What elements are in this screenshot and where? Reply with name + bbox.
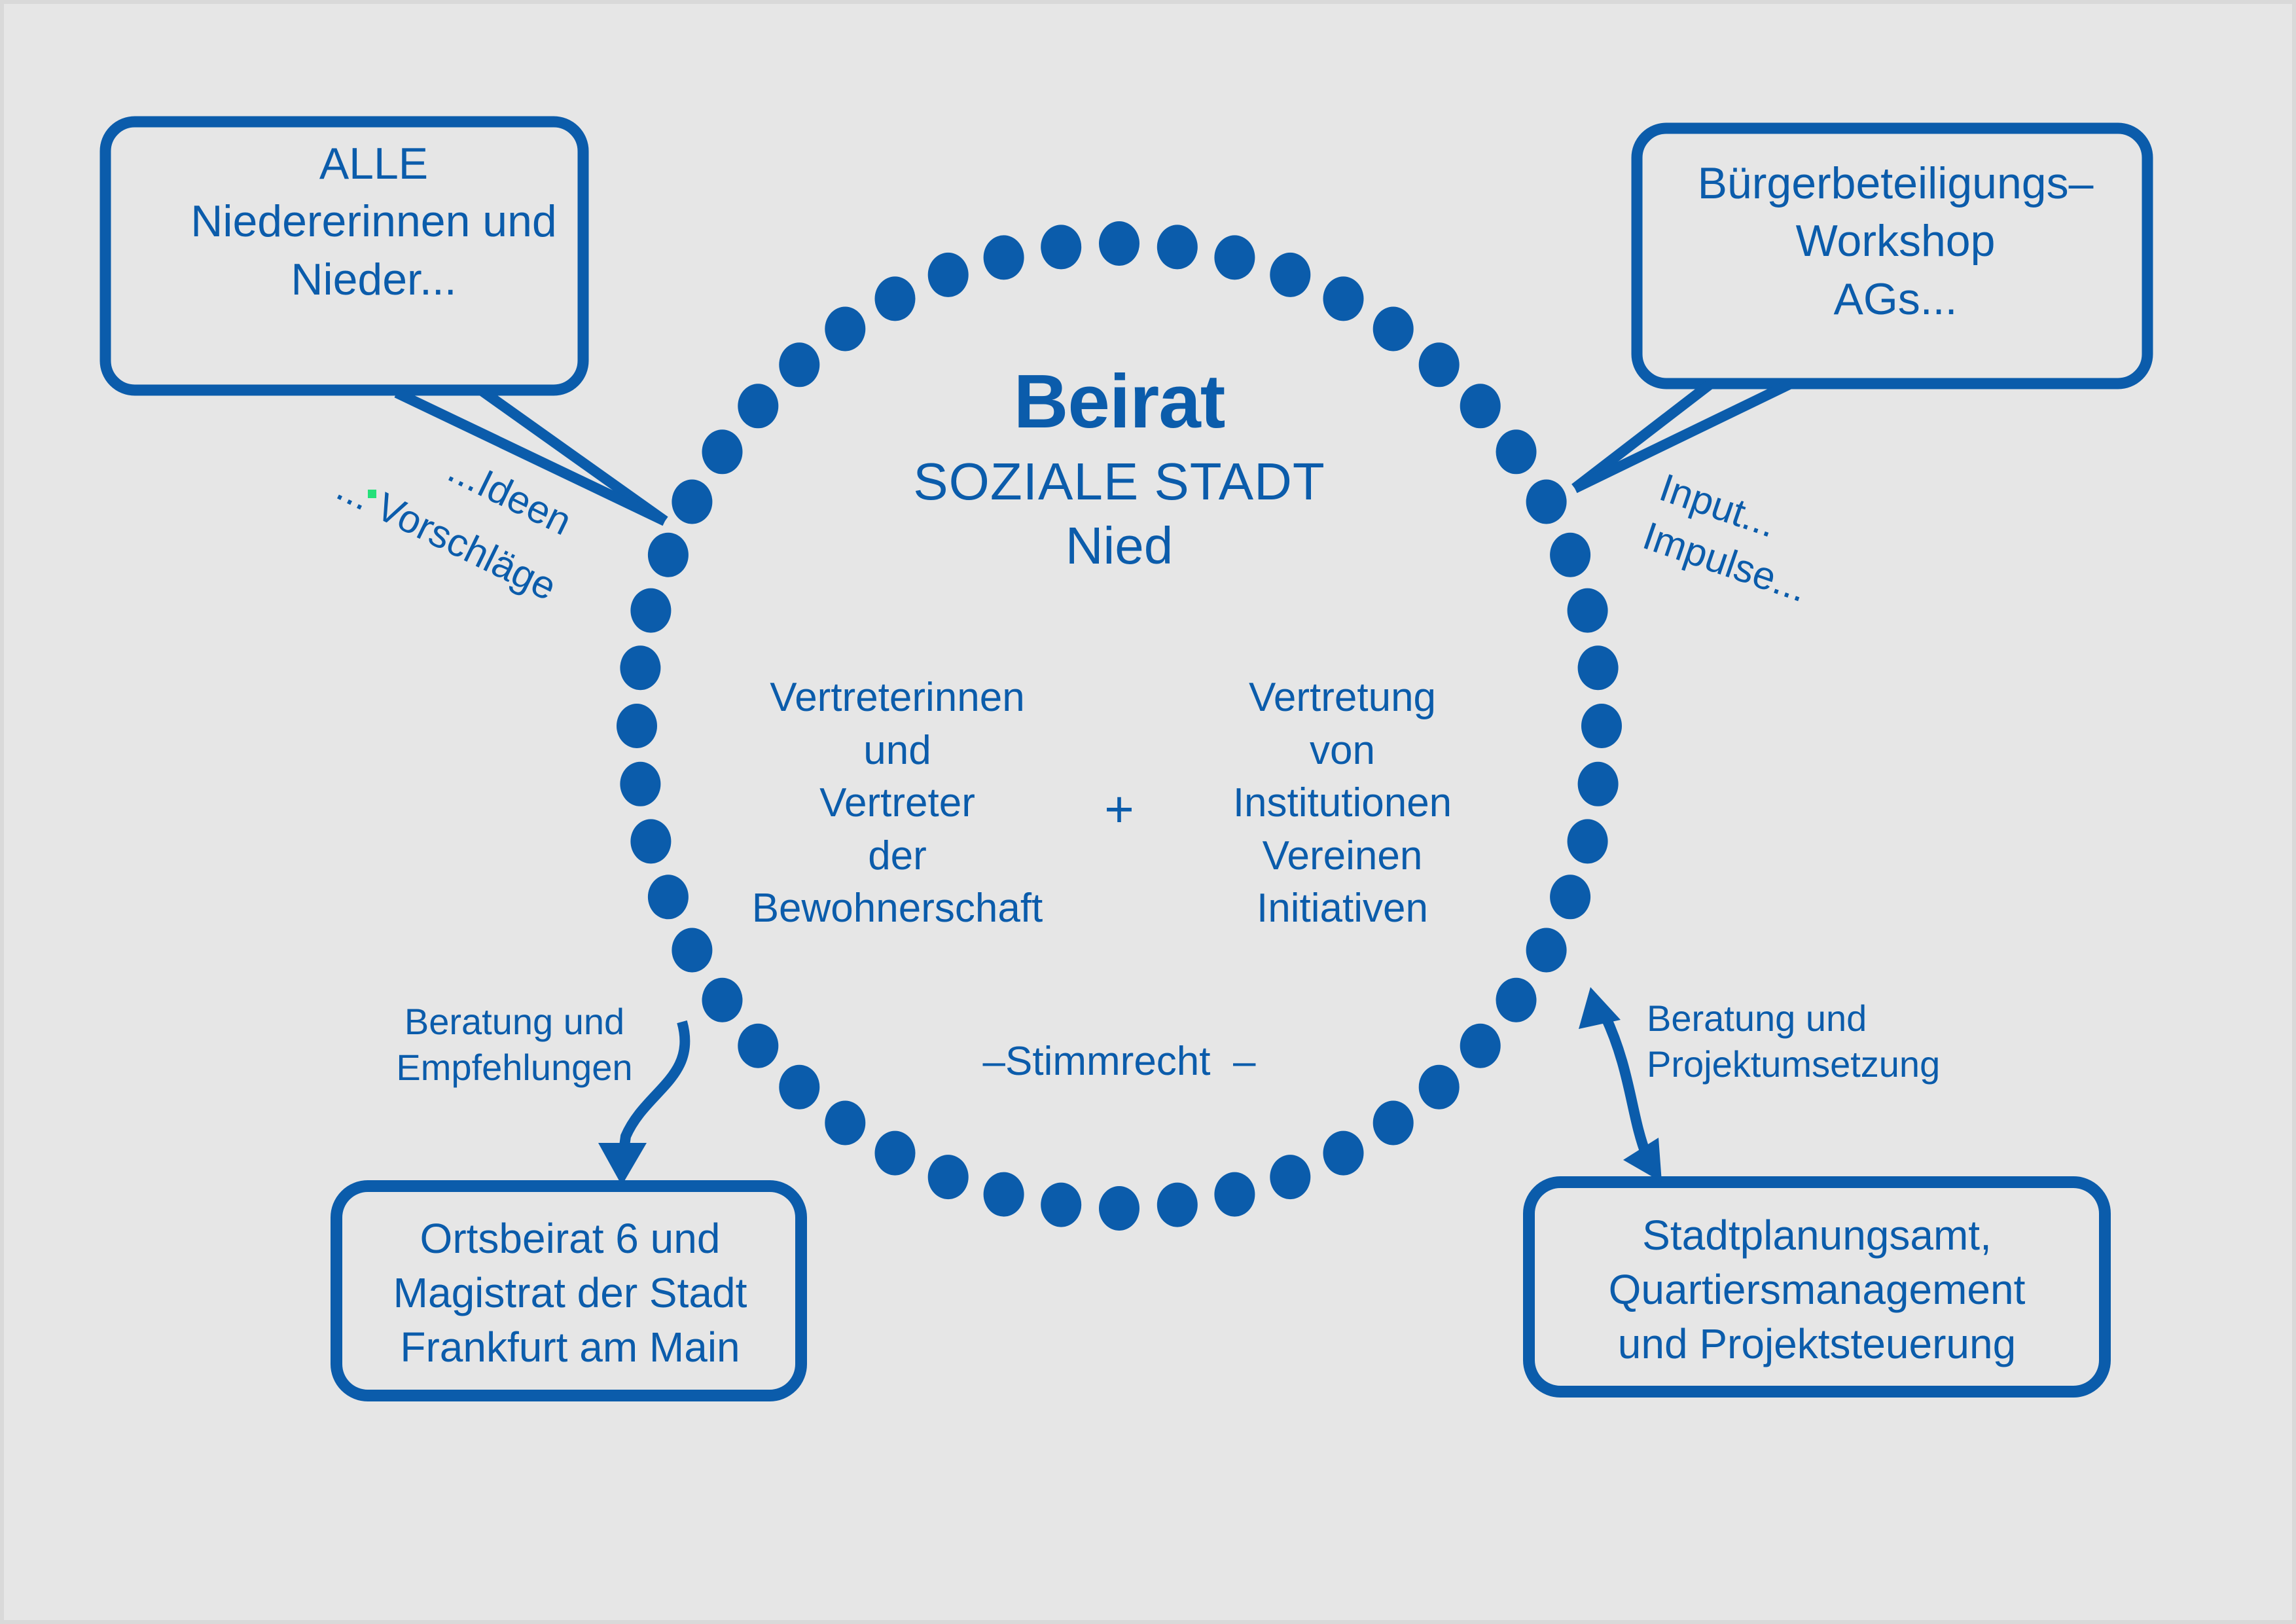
- circle-dot: [1568, 588, 1608, 633]
- voting-rights-note: –Stimmrecht –: [983, 1038, 1256, 1085]
- annotation-beratung-empfehlungen: Beratung und Empfehlungen: [377, 999, 652, 1091]
- left-col-line-3: Vertreter: [694, 777, 1100, 830]
- right-col-line-5: Initiativen: [1172, 882, 1513, 935]
- circle-dot: [779, 1065, 819, 1110]
- circle-dot: [1496, 978, 1537, 1022]
- circle-dot: [630, 819, 671, 863]
- left-col-line-5: Bewohnerschaft: [694, 882, 1100, 935]
- circle-dot: [875, 1131, 916, 1176]
- circle-dot: [1526, 928, 1567, 973]
- left-col-line-2: und: [694, 725, 1100, 778]
- page-title: Beirat: [759, 357, 1479, 445]
- circle-dot: [1214, 235, 1255, 280]
- annotation-beratung-projektumsetzung: Beratung und Projektumsetzung: [1647, 996, 1987, 1087]
- right-col-line-4: Vereinen: [1172, 830, 1513, 883]
- center-place: Nied: [759, 516, 1479, 576]
- circle-dot: [984, 235, 1024, 280]
- circle-dot: [1581, 704, 1622, 748]
- circle-dot: [1041, 225, 1081, 269]
- center-title-group: Beirat SOZIALE STADT Nied: [759, 357, 1479, 576]
- circle-dot: [648, 533, 689, 577]
- circle-dot: [1419, 1065, 1460, 1110]
- circle-dot: [1578, 762, 1619, 806]
- circle-dot: [1550, 533, 1590, 577]
- circle-dot: [1578, 645, 1619, 690]
- circle-dot: [620, 645, 660, 690]
- center-left-column: Vertreterinnen und Vertreter der Bewohne…: [694, 672, 1100, 935]
- circle-dot: [1526, 480, 1567, 524]
- box-left-line-2: Magistrat der Stadt: [344, 1266, 796, 1320]
- circle-dot: [648, 875, 689, 919]
- center-right-column: Vertretung von Institutionen Vereinen In…: [1172, 672, 1513, 935]
- circle-dot: [825, 1101, 865, 1146]
- bubble-right-line-1: Bürgerbeteiligungs–: [1660, 154, 2131, 212]
- circle-dot: [984, 1172, 1024, 1217]
- circle-dot: [1373, 1101, 1414, 1146]
- bubble-left-line-2: Niedererinnen und: [135, 192, 613, 250]
- bubble-right-line-3: AGs...: [1660, 270, 2131, 328]
- bubble-left-line-3: Nieder...: [135, 251, 613, 308]
- circle-dot: [1550, 875, 1590, 919]
- circle-dot: [928, 253, 969, 297]
- circle-dot: [1099, 221, 1139, 266]
- box-left-line-3: Frankfurt am Main: [344, 1320, 796, 1375]
- circle-dot: [617, 704, 657, 748]
- circle-dot: [630, 588, 671, 633]
- circle-dot: [875, 276, 916, 321]
- center-subtitle: SOZIALE STADT: [759, 452, 1479, 512]
- annot-left-line-1: Beratung und: [377, 999, 652, 1045]
- circle-dot: [1157, 225, 1198, 269]
- circle-dot: [738, 1024, 778, 1068]
- bubble-right-line-2: Workshop: [1660, 212, 2131, 270]
- circle-dot: [702, 429, 743, 474]
- speech-bubble-top-right: Bürgerbeteiligungs– Workshop AGs...: [1660, 154, 2131, 328]
- right-col-line-1: Vertretung: [1172, 672, 1513, 725]
- circle-dot: [1460, 1024, 1501, 1068]
- circle-dot: [1323, 276, 1364, 321]
- circle-dot: [1099, 1186, 1139, 1231]
- circle-dot: [1270, 1155, 1310, 1199]
- annot-right-line-1: Beratung und: [1647, 996, 1987, 1041]
- box-right-line-2: Quartiersmanagement: [1535, 1263, 2098, 1317]
- right-col-line-3: Institutionen: [1172, 777, 1513, 830]
- circle-dot: [825, 307, 865, 352]
- box-bottom-right: Stadtplanungsamt, Quartiersmanagement un…: [1535, 1208, 2098, 1372]
- circle-dot: [1270, 253, 1310, 297]
- annot-right-line-2: Projektumsetzung: [1647, 1041, 1987, 1087]
- circle-dot: [1041, 1183, 1081, 1227]
- circle-dot: [1568, 819, 1608, 863]
- box-right-line-3: und Projektsteuerung: [1535, 1317, 2098, 1371]
- box-right-line-1: Stadtplanungsamt,: [1535, 1208, 2098, 1263]
- diagram-canvas: Beirat SOZIALE STADT Nied Vertreterinnen…: [0, 0, 2296, 1624]
- circle-dot: [672, 480, 712, 524]
- circle-dot: [928, 1155, 969, 1199]
- circle-dot: [1214, 1172, 1255, 1217]
- plus-symbol: +: [1104, 780, 1134, 839]
- bubble-left-line-1: ALLE: [135, 135, 613, 192]
- right-col-line-2: von: [1172, 725, 1513, 778]
- circle-dot: [1496, 429, 1537, 474]
- box-left-line-1: Ortsbeirat 6 und: [344, 1212, 796, 1266]
- circle-dot: [1373, 307, 1414, 352]
- circle-dot: [1157, 1183, 1198, 1227]
- speech-bubble-top-left: ALLE Niedererinnen und Nieder...: [135, 135, 613, 308]
- left-col-line-1: Vertreterinnen: [694, 672, 1100, 725]
- circle-dot: [702, 978, 743, 1022]
- circle-dot: [620, 762, 660, 806]
- box-bottom-left: Ortsbeirat 6 und Magistrat der Stadt Fra…: [344, 1212, 796, 1375]
- left-col-line-4: der: [694, 830, 1100, 883]
- annot-left-line-2: Empfehlungen: [377, 1045, 652, 1091]
- circle-dot: [1323, 1131, 1364, 1176]
